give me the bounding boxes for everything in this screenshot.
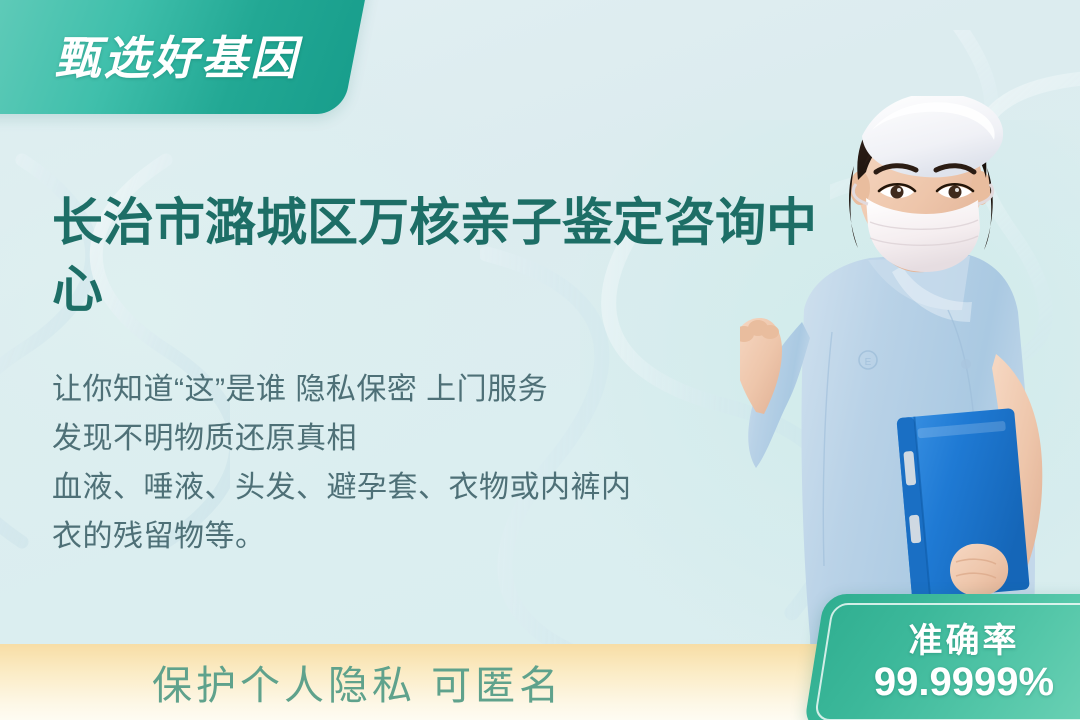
svg-text:E: E (865, 357, 872, 368)
body-copy-line-3: 血液、唾液、头发、避孕套、衣物或内裤内 (52, 464, 752, 513)
body-copy: 让你知道“这”是谁 隐私保密 上门服务 发现不明物质还原真相 血液、唾液、头发、… (52, 366, 752, 562)
accuracy-value: 99.9999% (874, 660, 1054, 705)
promo-poster: E (0, 0, 1080, 720)
brand-banner: 甄选好基因 (0, 0, 369, 114)
dna-helix-watermark-right (830, 30, 1080, 360)
brand-banner-text: 甄选好基因 (54, 22, 299, 88)
bottom-bar-text: 保护个人隐私 可匿名 (152, 653, 563, 711)
body-copy-line-2: 发现不明物质还原真相 (52, 415, 752, 464)
body-copy-line-4: 衣的残留物等。 (52, 513, 752, 562)
page-title: 长治市潞城区万核亲子鉴定咨询中心 (52, 189, 862, 324)
accuracy-label: 准确率 (909, 623, 1020, 660)
body-copy-line-1: 让你知道“这”是谁 隐私保密 上门服务 (52, 366, 752, 415)
accuracy-badge: 准确率 99.9999% (803, 594, 1080, 720)
